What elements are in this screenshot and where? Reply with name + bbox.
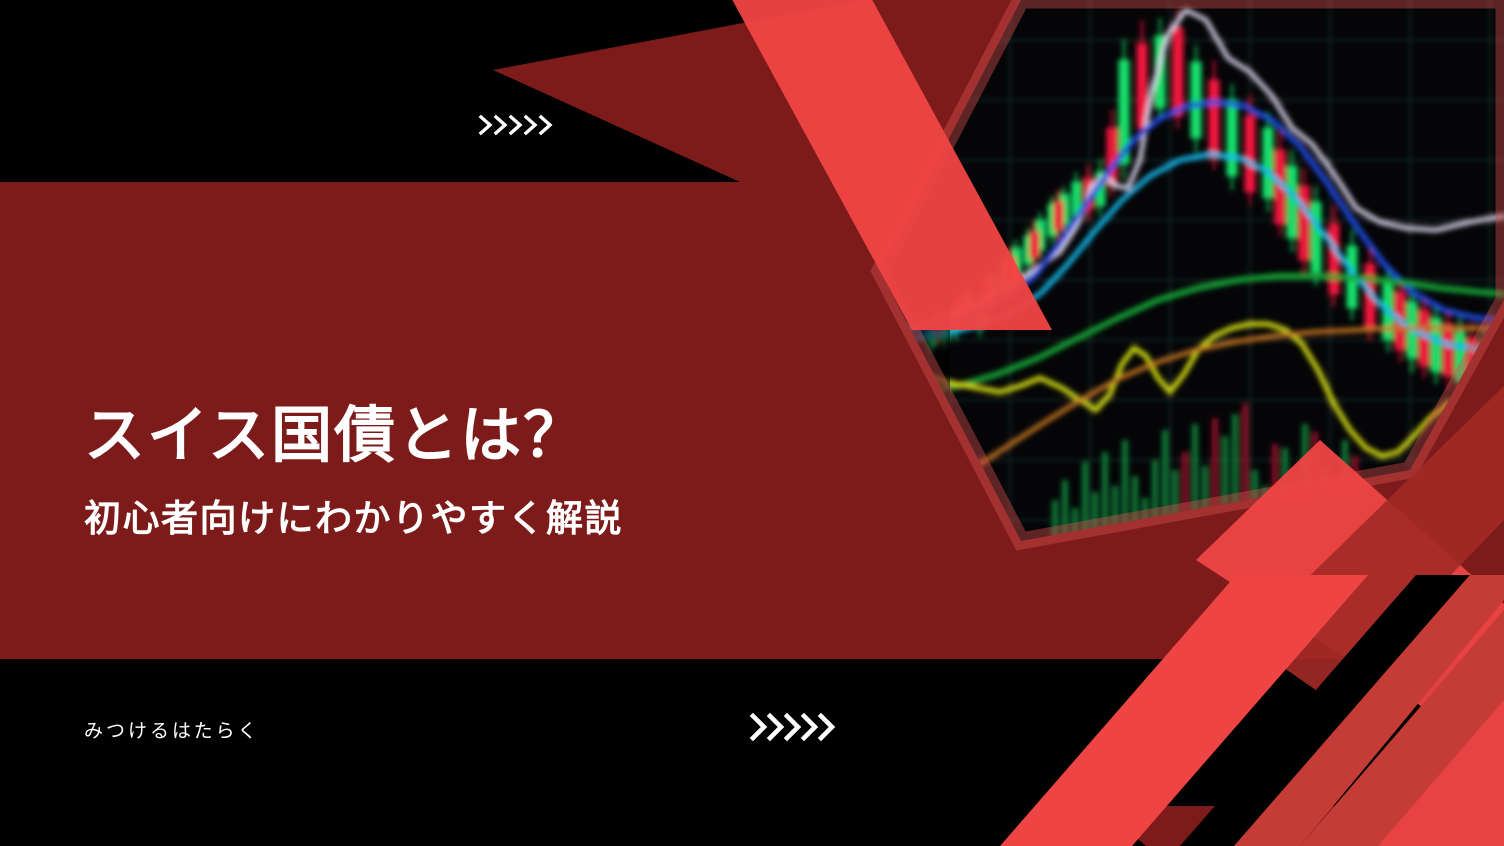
background-artwork bbox=[0, 0, 1504, 846]
slide-canvas: スイス国債とは？ 初心者向けにわかりやすく解説 みつけるはたらく bbox=[0, 0, 1504, 846]
